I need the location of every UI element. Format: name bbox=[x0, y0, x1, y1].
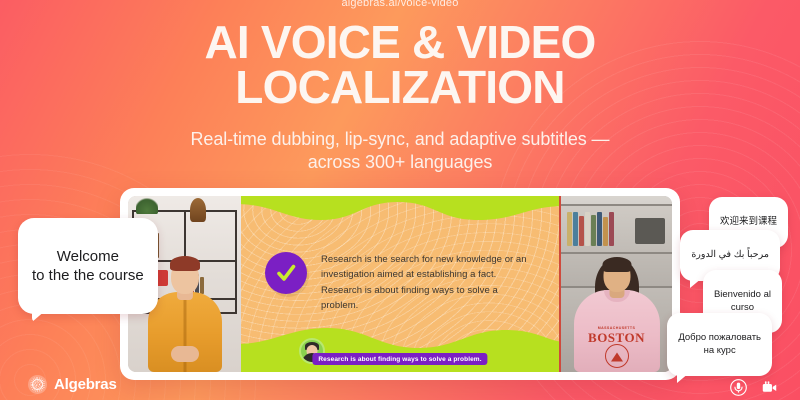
brand-logo[interactable]: Algebras bbox=[28, 375, 117, 394]
translation-bubble-text: Добро пожаловать на курс bbox=[678, 332, 761, 355]
video-preview-card: Research is the search for new knowledge… bbox=[120, 188, 680, 380]
subtitle-line-2: across 300+ languages bbox=[308, 152, 493, 172]
page-subtitle: Real-time dubbing, lip-sync, and adaptiv… bbox=[0, 128, 800, 173]
slide-content-row: Research is the search for new knowledge… bbox=[265, 252, 545, 314]
left-plant-icon bbox=[136, 196, 158, 214]
left-presenter-figure bbox=[148, 260, 222, 372]
slide-body-text: Research is the search for new knowledge… bbox=[321, 252, 536, 314]
presentation-slide: Research is the search for new knowledge… bbox=[241, 196, 559, 372]
video-preview-inner: Research is the search for new knowledge… bbox=[128, 196, 672, 372]
algebras-sphere-logo-icon bbox=[28, 375, 47, 394]
page-title: AI VOICE & VIDEO LOCALIZATION bbox=[0, 20, 800, 109]
translation-bubble-russian: Добро пожаловать на курс bbox=[667, 313, 772, 376]
title-line-2: LOCALIZATION bbox=[0, 65, 800, 110]
left-statue-decor bbox=[190, 198, 206, 222]
checkmark-circle-icon bbox=[265, 252, 307, 294]
brand-name: Algebras bbox=[54, 376, 117, 393]
video-camera-icon[interactable] bbox=[761, 379, 778, 396]
source-speech-bubble: Welcome to the the course bbox=[18, 218, 158, 314]
subtitle-line-1: Real-time dubbing, lip-sync, and adaptiv… bbox=[191, 129, 610, 149]
source-bubble-text: Welcome to the the course bbox=[32, 248, 144, 285]
translation-bubble-text: مرحباً بك في الدورة bbox=[691, 249, 769, 260]
microphone-icon[interactable] bbox=[730, 379, 747, 396]
slide-wave-top bbox=[241, 196, 559, 230]
footer-icon-group bbox=[730, 379, 778, 396]
bubble-tail bbox=[690, 278, 702, 288]
promo-banner: algebras.ai/voice-video AI VOICE & VIDEO… bbox=[0, 0, 800, 400]
site-url: algebras.ai/voice-video bbox=[0, 0, 800, 9]
bubble-tail bbox=[32, 310, 46, 322]
video-subtitle-caption: Research is about finding ways to solve … bbox=[312, 353, 487, 365]
sweatshirt-seal-icon bbox=[605, 344, 629, 368]
translation-bubble-text: Bienvenido al curso bbox=[714, 289, 771, 312]
bubble-tail bbox=[677, 373, 689, 383]
right-presenter-figure: MASSACHUSETTS BOSTON bbox=[574, 244, 660, 372]
translation-bubble-text: 欢迎来到课程 bbox=[720, 216, 777, 227]
right-camera-pane: MASSACHUSETTS BOSTON bbox=[559, 196, 672, 372]
